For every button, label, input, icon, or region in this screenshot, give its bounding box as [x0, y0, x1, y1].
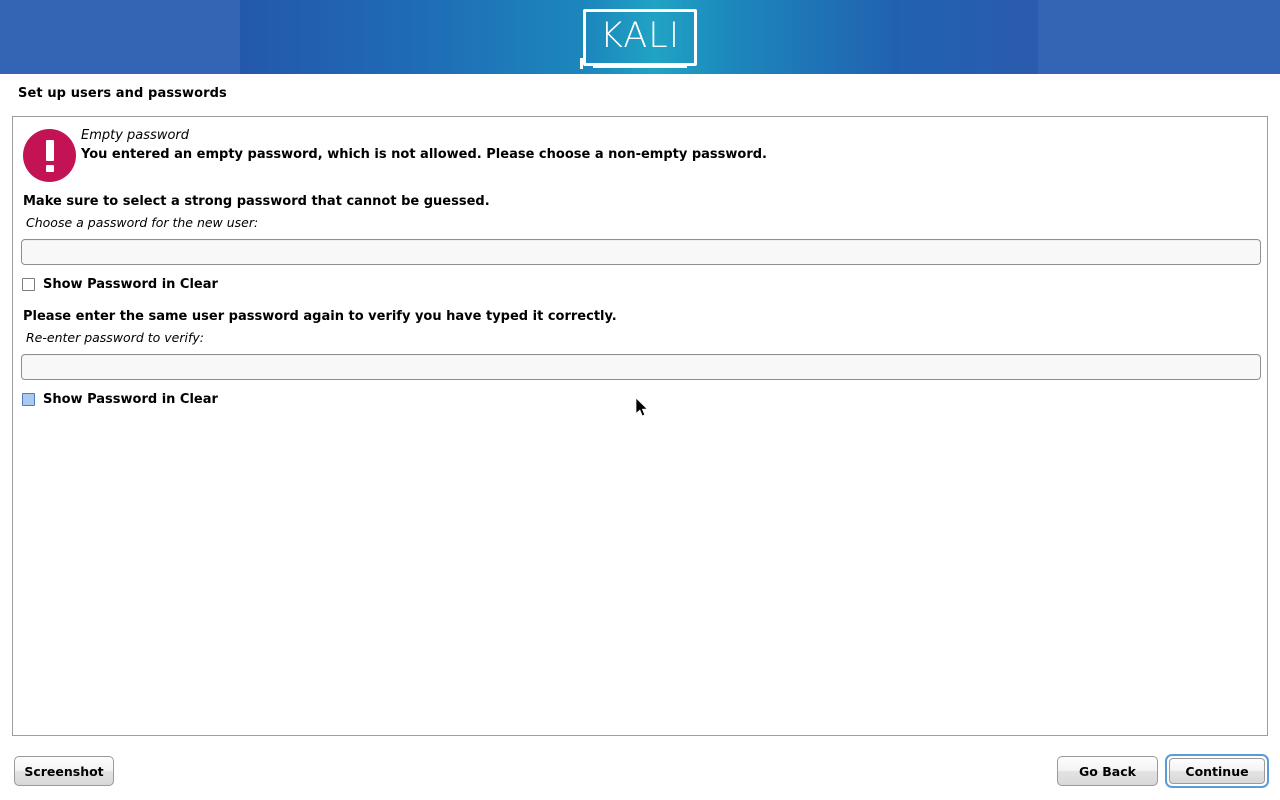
show-password-label-2: Show Password in Clear — [43, 392, 218, 407]
continue-button[interactable]: Continue — [1169, 758, 1265, 784]
password-strength-hint: Make sure to select a strong password th… — [23, 194, 490, 209]
screenshot-button[interactable]: Screenshot — [14, 756, 114, 786]
show-password-checkbox-1[interactable] — [22, 278, 35, 291]
installer-window: KALI Set up users and passwords Empty pa… — [0, 0, 1280, 800]
page-title: Set up users and passwords — [18, 86, 227, 101]
show-password-in-clear-row-1[interactable]: Show Password in Clear — [22, 277, 218, 292]
content-panel: Empty password You entered an empty pass… — [12, 116, 1268, 736]
verify-field-label: Re-enter password to verify: — [26, 330, 204, 345]
exclamation-bar — [46, 140, 54, 161]
password-input[interactable] — [21, 239, 1261, 265]
exclamation-dot — [46, 165, 54, 172]
error-exclamation-icon — [23, 129, 76, 182]
kali-logo: KALI — [583, 9, 697, 66]
show-password-in-clear-row-2[interactable]: Show Password in Clear — [22, 392, 218, 407]
error-message-block: Empty password You entered an empty pass… — [13, 117, 1267, 195]
show-password-label-1: Show Password in Clear — [43, 277, 218, 292]
show-password-checkbox-2[interactable] — [22, 393, 35, 406]
error-message-text: You entered an empty password, which is … — [81, 147, 767, 162]
verify-password-input[interactable] — [21, 354, 1261, 380]
kali-header-banner: KALI — [0, 0, 1280, 74]
go-back-button[interactable]: Go Back — [1057, 756, 1158, 786]
verify-password-hint: Please enter the same user password agai… — [23, 309, 617, 324]
kali-logo-text: KALI — [583, 9, 697, 66]
password-field-label: Choose a password for the new user: — [26, 215, 258, 230]
error-title: Empty password — [81, 128, 189, 143]
